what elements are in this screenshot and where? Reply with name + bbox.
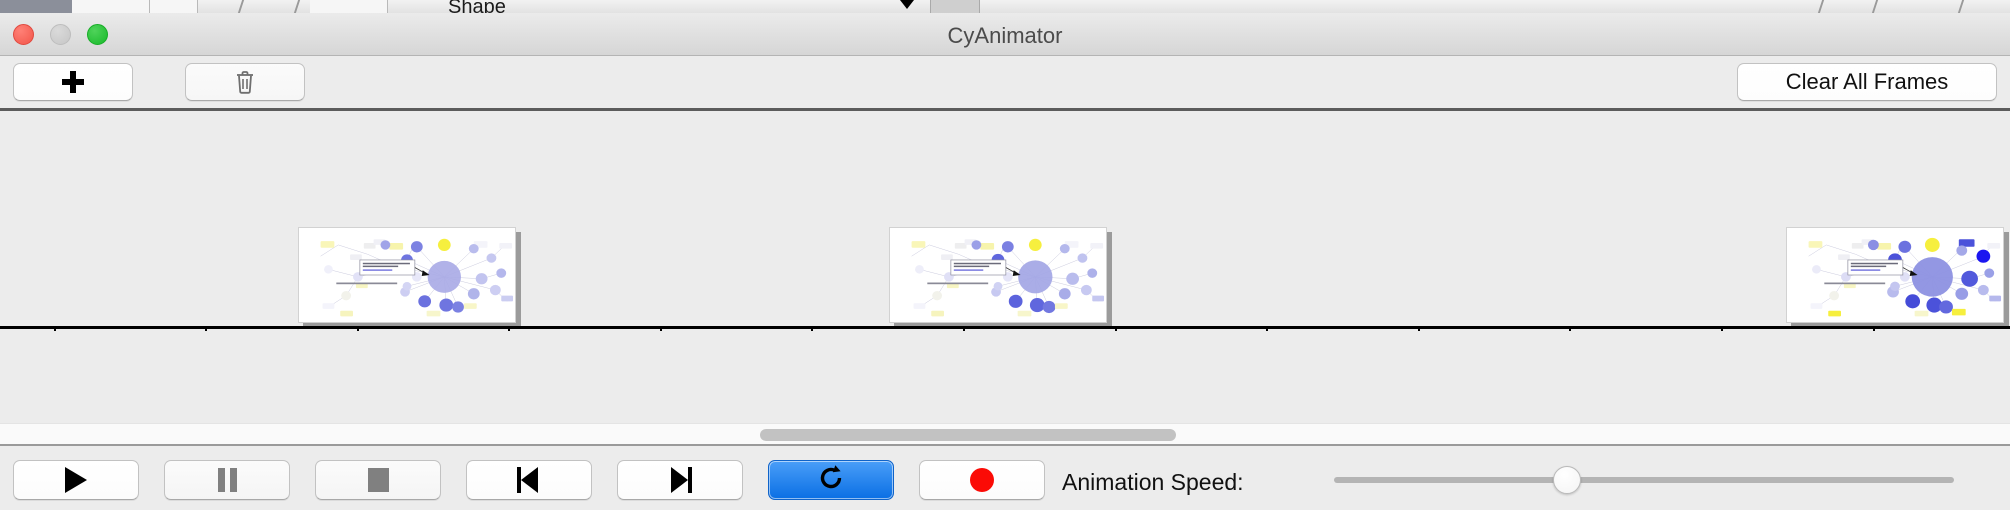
background-divider (238, 0, 244, 13)
play-button[interactable] (13, 460, 139, 500)
skip-to-start-button[interactable] (466, 460, 592, 500)
axis-tick-major (357, 329, 359, 331)
background-tab (72, 0, 150, 13)
background-window-sidebar (0, 0, 72, 13)
play-icon (65, 467, 87, 493)
frame-thumbnail[interactable] (889, 227, 1111, 327)
skip-to-end-icon (668, 467, 692, 493)
axis-tick-minor (811, 329, 813, 331)
record-icon (970, 468, 994, 492)
background-divider (1818, 0, 1824, 13)
window-title: CyAnimator (0, 23, 2010, 49)
skip-to-end-button[interactable] (617, 460, 743, 500)
skip-to-start-icon (517, 467, 541, 493)
background-divider (1872, 0, 1878, 13)
loop-icon (817, 464, 845, 497)
record-button[interactable] (919, 460, 1045, 500)
background-caret-icon (900, 0, 914, 9)
axis-tick-major (1873, 329, 1875, 331)
axis-tick-minor (1721, 329, 1723, 331)
clear-all-frames-button[interactable]: Clear All Frames (1737, 63, 1997, 101)
stop-button[interactable] (315, 460, 441, 500)
axis-tick-minor (508, 329, 510, 331)
axis-tick-minor (1115, 329, 1117, 331)
playback-controls-bar: Animation Speed: (0, 444, 2010, 510)
background-selected-cell (930, 0, 980, 13)
animation-speed-label: Animation Speed: (1062, 469, 1244, 496)
plus-icon (62, 71, 84, 93)
clear-all-frames-label: Clear All Frames (1786, 69, 1949, 95)
frame-network-preview (298, 227, 516, 323)
background-tab (150, 0, 198, 13)
animation-speed-slider[interactable] (1334, 460, 1954, 500)
background-divider (294, 0, 300, 13)
title-bar: CyAnimator (0, 13, 2010, 56)
axis-tick-minor (205, 329, 207, 331)
frame-thumbnail[interactable] (298, 227, 520, 327)
background-window-strip: Shape (0, 0, 2010, 13)
axis-tick-major (963, 329, 965, 331)
axis-tick-major (1569, 329, 1571, 331)
pause-button[interactable] (164, 460, 290, 500)
pause-icon (218, 468, 237, 492)
frame-thumbnail[interactable] (1786, 227, 2008, 327)
slider-thumb[interactable] (1553, 466, 1581, 494)
frame-network-preview (889, 227, 1107, 323)
horizontal-scrollbar-track[interactable] (0, 423, 2010, 445)
background-divider (1958, 0, 1964, 13)
axis-line (0, 326, 2010, 329)
stop-icon (368, 468, 389, 492)
delete-frame-button[interactable] (185, 63, 305, 101)
axis-tick-major (660, 329, 662, 331)
horizontal-scrollbar-thumb[interactable] (760, 429, 1176, 441)
axis-tick-major (54, 329, 56, 331)
trash-icon (235, 70, 255, 94)
frame-network-preview (1786, 227, 2004, 323)
cyanimator-window: CyAnimator Clear All Frames (0, 13, 2010, 510)
loop-button[interactable] (768, 460, 894, 500)
slider-track (1334, 477, 1954, 483)
axis-tick-major (1266, 329, 1268, 331)
toolbar: Clear All Frames (0, 56, 2010, 108)
background-window-label: Shape (448, 0, 506, 13)
frames-timeline-panel[interactable]: 2131415161718 Seconds (0, 111, 2010, 331)
background-tab (310, 0, 388, 13)
axis-tick-minor (1418, 329, 1420, 331)
add-frame-button[interactable] (13, 63, 133, 101)
